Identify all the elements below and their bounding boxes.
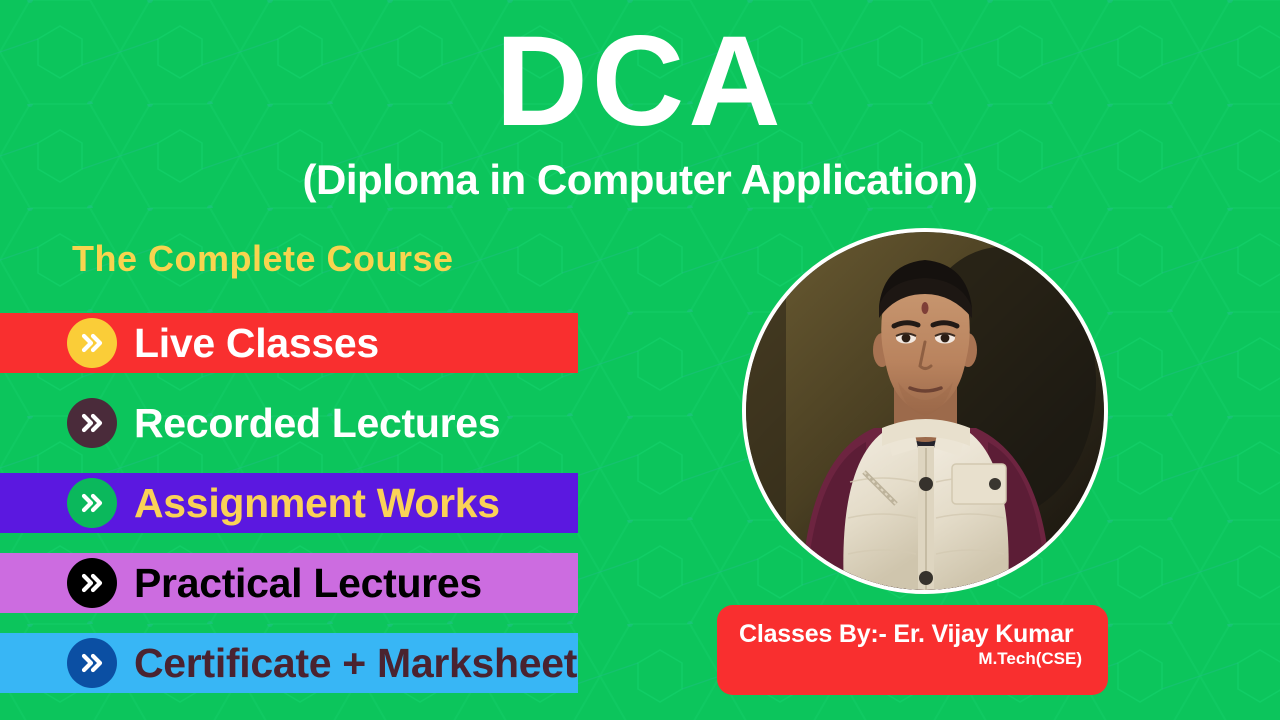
feature-row[interactable]: Live Classes <box>0 313 379 373</box>
instructor-banner: Classes By:- Er. Vijay Kumar M.Tech(CSE) <box>717 605 1108 695</box>
feature-label: Live Classes <box>134 323 379 364</box>
double-chevron-right-icon <box>67 398 117 448</box>
double-chevron-right-icon <box>67 558 117 608</box>
avatar <box>746 232 1104 590</box>
tagline: The Complete Course <box>72 238 454 280</box>
double-chevron-right-icon <box>67 478 117 528</box>
instructor-degree: M.Tech(CSE) <box>739 649 1086 669</box>
feature-label: Assignment Works <box>134 483 500 524</box>
feature-label: Practical Lectures <box>134 563 482 604</box>
feature-label: Certificate + Marksheet <box>134 643 577 684</box>
page-title: DCA <box>0 18 1280 146</box>
course-full-name: (Diploma in Computer Application) <box>0 157 1280 203</box>
feature-row[interactable]: Practical Lectures <box>0 553 482 613</box>
feature-row[interactable]: Recorded Lectures <box>0 393 500 453</box>
instructor-photo <box>742 228 1108 594</box>
instructor-name: Classes By:- Er. Vijay Kumar <box>739 621 1086 647</box>
feature-row[interactable]: Certificate + Marksheet <box>0 633 577 693</box>
feature-row[interactable]: Assignment Works <box>0 473 500 533</box>
portrait-illustration <box>746 232 1104 590</box>
feature-label: Recorded Lectures <box>134 403 500 444</box>
double-chevron-right-icon <box>67 318 117 368</box>
double-chevron-right-icon <box>67 638 117 688</box>
